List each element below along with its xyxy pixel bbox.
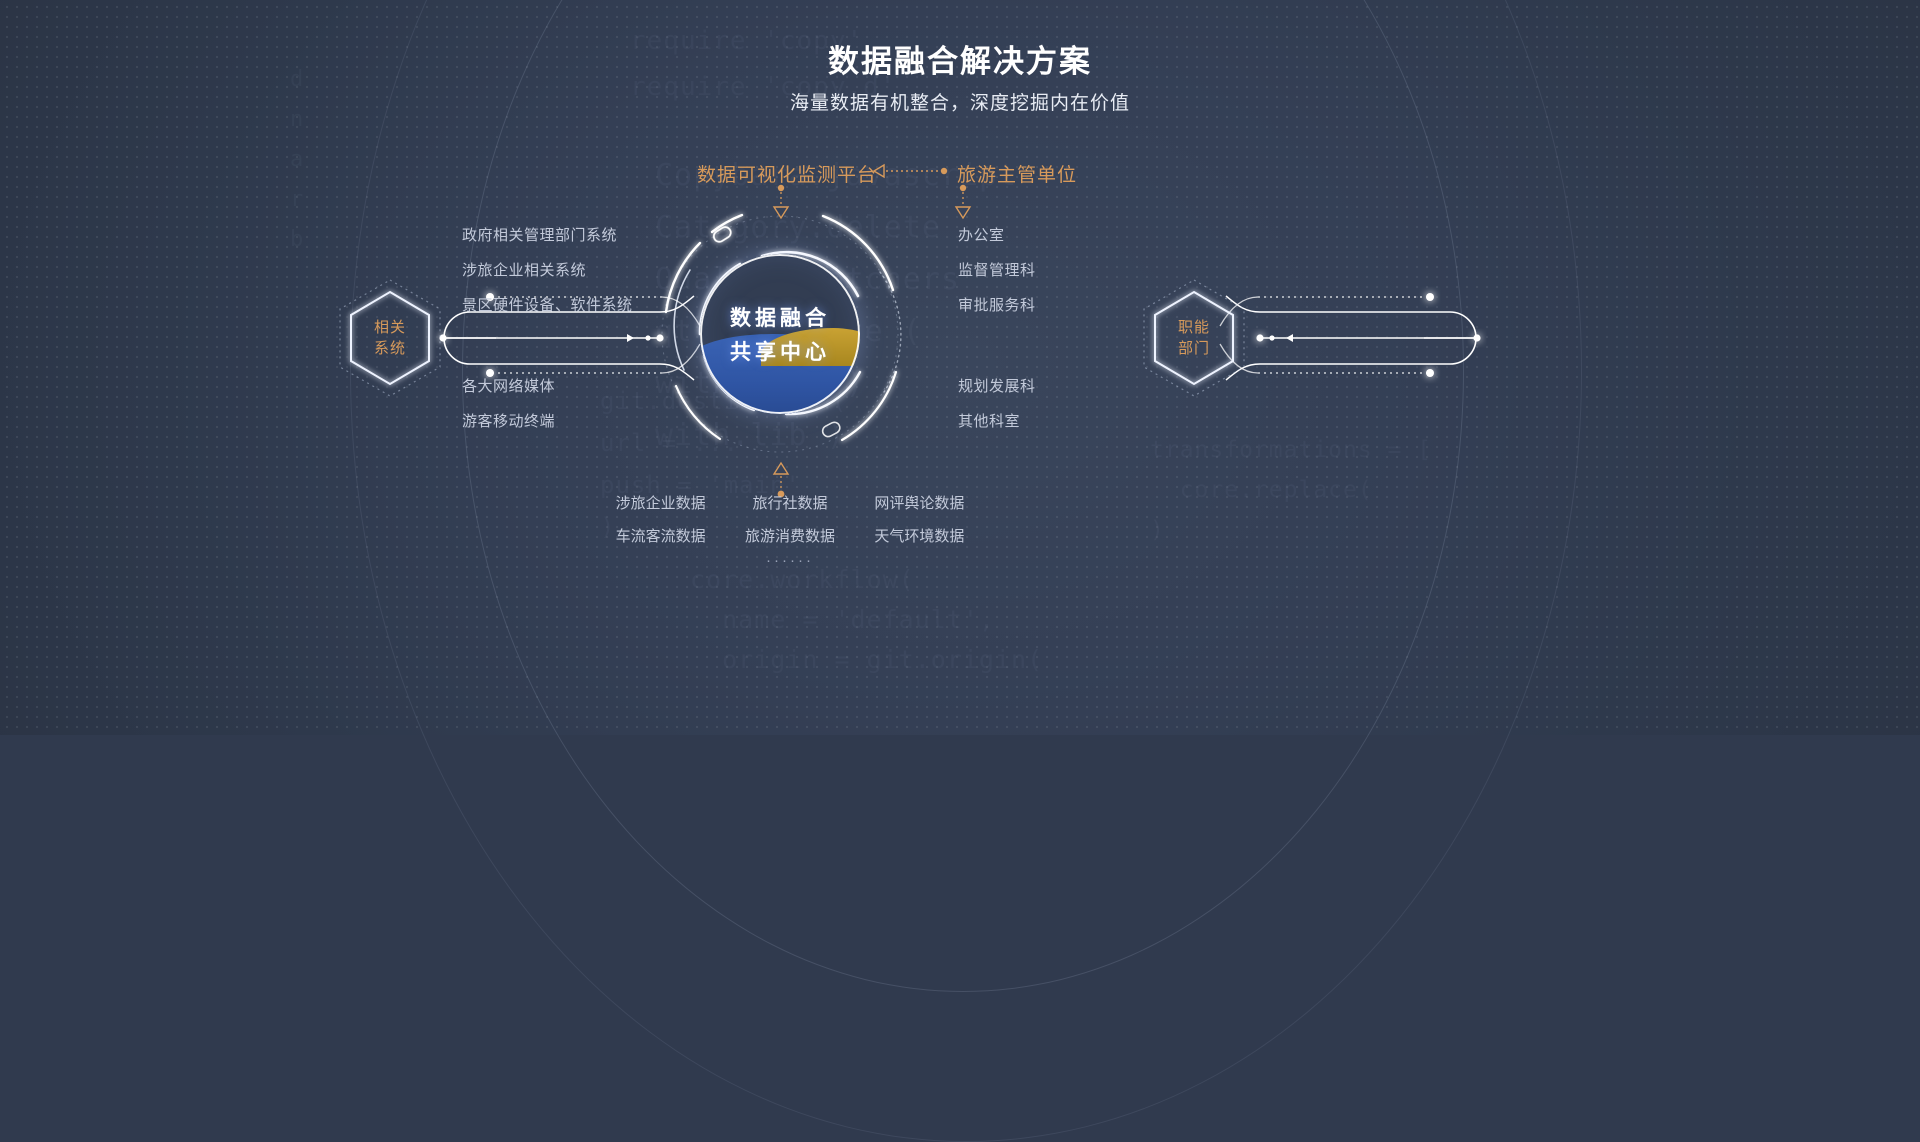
list-item: 车流客流数据 — [600, 525, 721, 546]
list-item: 天气环境数据 — [859, 525, 980, 546]
list-item: 各大网络媒体 — [462, 375, 555, 396]
right-column-bottom: 规划发展科 其他科室 — [958, 375, 1036, 445]
node-label-line2: 部门 — [1178, 338, 1210, 359]
list-item: 旅行社数据 — [729, 492, 850, 513]
list-item: 其他科室 — [958, 410, 1036, 431]
list-item: 游客移动终端 — [462, 410, 555, 431]
node-label-line1: 相关 — [374, 317, 406, 338]
down-triangle-arrow-icon — [956, 207, 970, 218]
right-connector-bus — [1220, 293, 1481, 380]
list-item: 景区硬件设备、软件系统 — [462, 294, 633, 315]
top-label-visualization-platform[interactable]: 数据可视化监测平台 — [697, 160, 877, 187]
left-column-bottom: 各大网络媒体 游客移动终端 — [462, 375, 555, 445]
page-subtitle: 海量数据有机整合，深度挖掘内在价值 — [0, 88, 1920, 115]
list-item: 涉旅企业相关系统 — [462, 259, 633, 280]
list-item: 网评舆论数据 — [859, 492, 980, 513]
top-flow-arrow — [874, 165, 947, 177]
node-related-systems[interactable]: 相关 系统 — [337, 278, 443, 398]
list-item: 涉旅企业数据 — [600, 492, 721, 513]
list-item: 审批服务科 — [958, 294, 1036, 315]
list-item: 政府相关管理部门系统 — [462, 224, 633, 245]
top-label-tourism-authority[interactable]: 旅游主管单位 — [957, 160, 1077, 187]
center-hub: 数据融合 共享中心 — [656, 210, 904, 458]
node-label-line1: 职能 — [1178, 317, 1210, 338]
bottom-ellipsis: ······ — [600, 552, 980, 569]
bottom-data-grid: 涉旅企业数据 旅行社数据 网评舆论数据 车流客流数据 旅游消费数据 天气环境数据 — [600, 492, 980, 546]
center-sphere — [700, 254, 860, 414]
left-column-top: 政府相关管理部门系统 涉旅企业相关系统 景区硬件设备、软件系统 — [462, 224, 633, 329]
list-item: 规划发展科 — [958, 375, 1036, 396]
right-column-top: 办公室 监督管理科 审批服务科 — [958, 224, 1036, 329]
list-item: 监督管理科 — [958, 259, 1036, 280]
node-functional-departments[interactable]: 职能 部门 — [1141, 278, 1247, 398]
page-title: 数据融合解决方案 — [0, 36, 1920, 81]
node-functional-departments-label: 职能 部门 — [1141, 278, 1247, 398]
up-triangle-arrow-icon — [774, 463, 788, 474]
list-item: 办公室 — [958, 224, 1036, 245]
node-related-systems-label: 相关 系统 — [337, 278, 443, 398]
sphere-ring-light — [700, 254, 860, 414]
node-label-line2: 系统 — [374, 338, 406, 359]
list-item: 旅游消费数据 — [729, 525, 850, 546]
